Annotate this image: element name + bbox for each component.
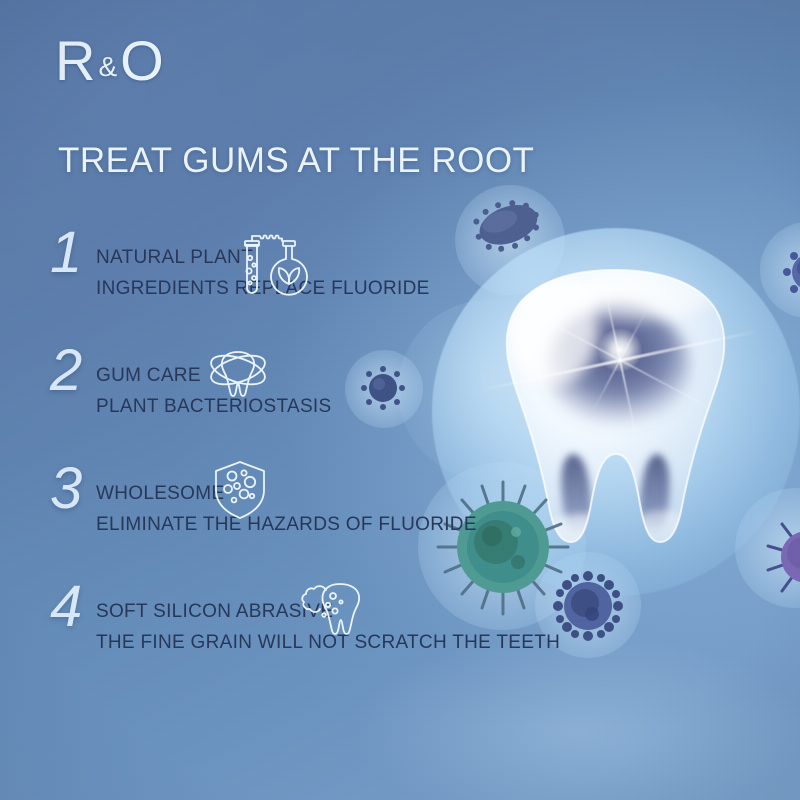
list-item: 2 GUM CARE PLANT BACTERIOSTASIS (0, 336, 520, 454)
tooth-orbit-icon (205, 342, 271, 404)
brand-logo: R&O (55, 33, 165, 89)
feature-text: WHOLESOME ELIMINATE THE HAZARDS OF FLUOR… (96, 478, 477, 540)
content-layer: R&O TREAT GUMS AT THE ROOT 1 NATURAL PLA… (0, 0, 800, 800)
tooth-foam-icon (292, 574, 370, 640)
page-title: TREAT GUMS AT THE ROOT (58, 141, 534, 181)
feature-number: 2 (50, 342, 82, 400)
logo-letter-o: O (120, 33, 165, 89)
feature-line-1: WHOLESOME (96, 478, 477, 509)
logo-ampersand: & (96, 53, 120, 89)
list-item: 3 WHOLESOME ELIMINATE THE HAZARDS OF FLU… (0, 454, 520, 572)
feature-line-2: ELIMINATE THE HAZARDS OF FLUORIDE (96, 509, 477, 540)
feature-number: 4 (50, 578, 82, 636)
feature-number: 3 (50, 460, 82, 518)
product-infographic-poster: R&O TREAT GUMS AT THE ROOT 1 NATURAL PLA… (0, 0, 800, 800)
shield-bubbles-icon (212, 458, 268, 522)
feature-list: 1 NATURAL PLANT INGREDIENTS REPLACE FLUO… (0, 218, 520, 690)
test-tube-flask-leaf-icon (228, 232, 318, 304)
list-item: 1 NATURAL PLANT INGREDIENTS REPLACE FLUO… (0, 218, 520, 336)
list-item: 4 SOFT SILICON ABRASIVE THE FINE GRAIN W… (0, 572, 520, 690)
logo-letter-r: R (55, 33, 96, 89)
feature-number: 1 (50, 224, 82, 282)
